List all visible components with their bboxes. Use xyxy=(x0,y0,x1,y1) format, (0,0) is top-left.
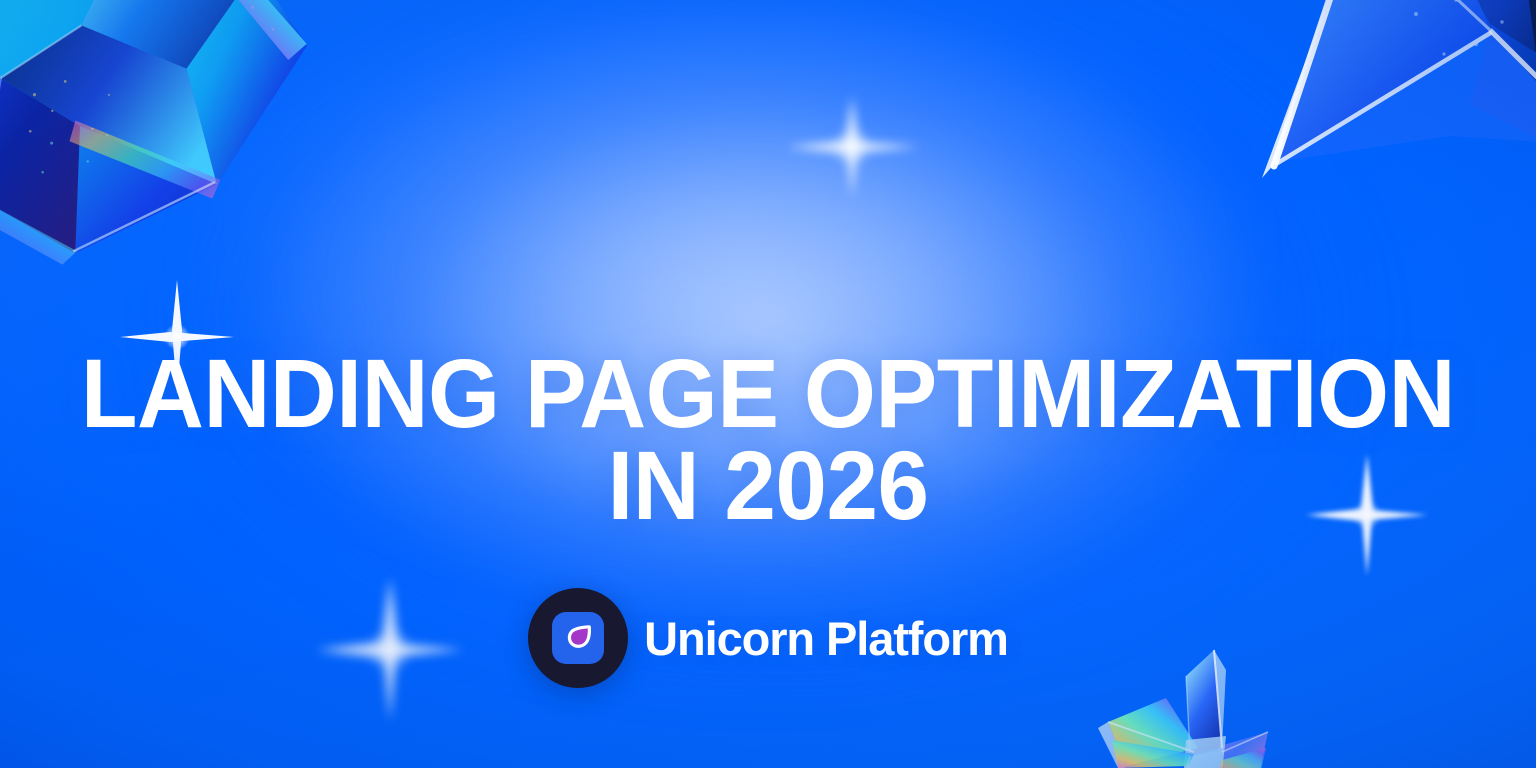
page-title: LANDING PAGE OPTIMIZATION IN 2026 xyxy=(35,348,1502,532)
hero-banner: LANDING PAGE OPTIMIZATION IN 2026 Unicor… xyxy=(0,0,1536,768)
logo-tile xyxy=(552,612,604,664)
brand-lockup[interactable]: Unicorn Platform xyxy=(0,588,1536,688)
unicorn-platform-logo-icon xyxy=(528,588,628,688)
brand-name-label: Unicorn Platform xyxy=(644,615,1008,662)
droplet-icon xyxy=(562,622,594,654)
